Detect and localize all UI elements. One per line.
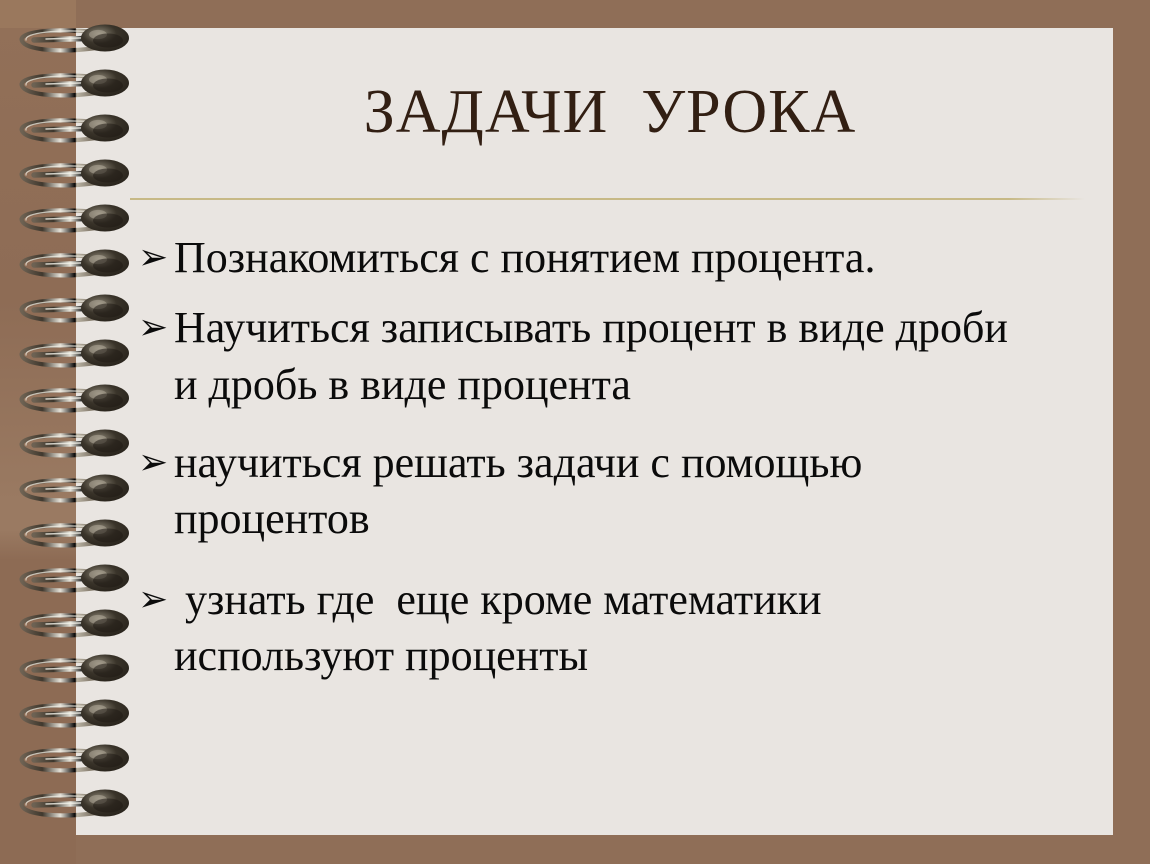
list-item-text: Познакомиться с понятием процента. bbox=[174, 230, 1029, 286]
slide-canvas: ЗАДАЧИ УРОКА ➢ Познакомиться с понятием … bbox=[0, 0, 1150, 864]
spiral-coil bbox=[0, 738, 170, 784]
list-item: ➢ Научиться записывать процент в виде др… bbox=[138, 300, 1088, 413]
spiral-coil bbox=[0, 648, 170, 694]
page-title: ЗАДАЧИ УРОКА bbox=[130, 80, 1090, 145]
spiral-coil bbox=[0, 288, 170, 334]
spiral-coil bbox=[0, 333, 170, 379]
spiral-coil bbox=[0, 63, 170, 109]
list-item: ➢ Познакомиться с понятием процента. bbox=[138, 230, 1088, 286]
spiral-coil bbox=[0, 468, 170, 514]
notepad-page: ЗАДАЧИ УРОКА ➢ Познакомиться с понятием … bbox=[76, 28, 1113, 835]
spiral-coil bbox=[0, 783, 170, 829]
list-item-text: узнать где еще кроме математики использу… bbox=[174, 572, 994, 685]
spiral-coil bbox=[0, 378, 170, 424]
title-divider bbox=[130, 198, 1085, 200]
background-right-edge bbox=[1113, 0, 1150, 864]
spiral-coil bbox=[0, 18, 170, 64]
spiral-coil bbox=[0, 108, 170, 154]
spiral-coil bbox=[0, 153, 170, 199]
objectives-list: ➢ Познакомиться с понятием процента. ➢ Н… bbox=[138, 224, 1088, 684]
spiral-coil bbox=[0, 693, 170, 739]
spiral-coil bbox=[0, 423, 170, 469]
spiral-coil bbox=[0, 198, 170, 244]
list-item: ➢ узнать где еще кроме математики исполь… bbox=[138, 572, 1088, 685]
spiral-coil bbox=[0, 603, 170, 649]
spiral-binding bbox=[0, 0, 170, 864]
spiral-coil bbox=[0, 243, 170, 289]
list-item-text: научиться решать задачи с помощью процен… bbox=[174, 435, 1029, 548]
spiral-coil bbox=[0, 558, 170, 604]
list-item-text: Научиться записывать процент в виде дроб… bbox=[174, 300, 1029, 413]
spiral-coil bbox=[0, 513, 170, 559]
list-item: ➢ научиться решать задачи с помощью проц… bbox=[138, 435, 1088, 548]
